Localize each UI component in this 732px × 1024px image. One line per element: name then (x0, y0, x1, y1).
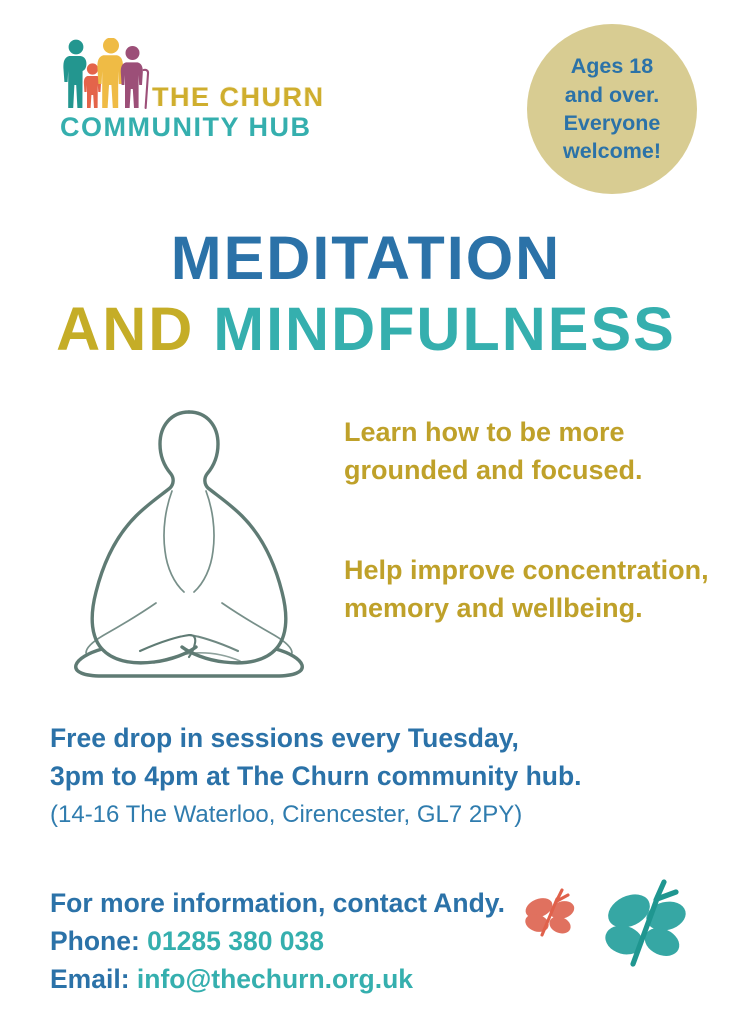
phone-value[interactable]: 01285 380 038 (147, 926, 324, 956)
email-label: Email: (50, 964, 137, 994)
ages-badge: Ages 18 and over. Everyone welcome! (527, 24, 697, 194)
session-info: Free drop in sessions every Tuesday, 3pm… (50, 720, 690, 833)
session-line-1: Free drop in sessions every Tuesday, (50, 720, 690, 758)
meditating-lotus-pose-figure (44, 395, 334, 680)
benefit-text-2: Help improve concentration, memory and w… (344, 551, 712, 628)
contact-info: For more information, contact Andy. Phon… (50, 884, 550, 998)
logo: THE CHURN COMMUNITY HUB (60, 38, 310, 143)
figure-adult-teal (63, 40, 86, 108)
logo-family-figures (60, 38, 152, 110)
poster-title: MEDITATION AND MINDFULNESS (0, 228, 732, 360)
butterfly-small-icon (520, 884, 582, 946)
session-line-2: 3pm to 4pm at The Churn community hub. (50, 758, 690, 796)
contact-phone: Phone: 01285 380 038 (50, 922, 550, 960)
logo-wordmark-line1: THE CHURN (152, 82, 325, 113)
contact-email: Email: info@thechurn.org.uk (50, 960, 550, 998)
butterfly-large-icon (598, 876, 696, 974)
ages-badge-text: Ages 18 and over. Everyone welcome! (563, 52, 661, 166)
session-address: (14-16 The Waterloo, Cirencester, GL7 2P… (50, 797, 690, 833)
title-line-meditation: MEDITATION (0, 228, 732, 289)
logo-wordmark-line2: COMMUNITY HUB (60, 112, 312, 143)
contact-intro: For more information, contact Andy. (50, 884, 550, 922)
benefit-text-1: Learn how to be more grounded and focuse… (344, 413, 712, 490)
phone-label: Phone: (50, 926, 147, 956)
title-word-and: AND (56, 295, 194, 363)
figure-adult-yellow (97, 38, 123, 108)
title-line-mindfulness: AND MINDFULNESS (0, 299, 732, 360)
email-value[interactable]: info@thechurn.org.uk (137, 964, 413, 994)
title-word-mindfulness: MINDFULNESS (213, 295, 676, 363)
figure-elder-purple (121, 46, 148, 108)
